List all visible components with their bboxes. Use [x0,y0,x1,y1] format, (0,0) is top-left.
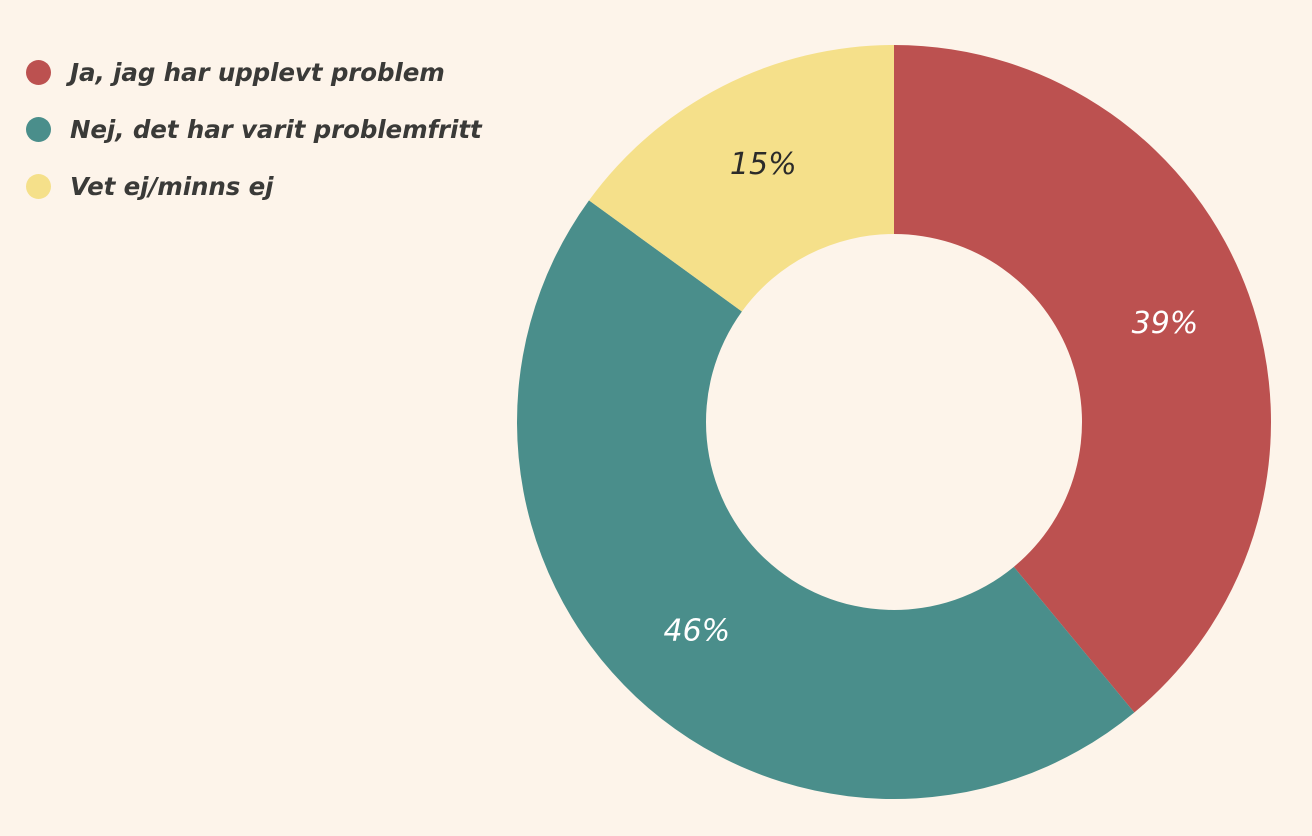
donut-chart: 39%46%15% [0,0,1312,836]
donut-slice-label: 39% [1132,306,1199,341]
donut-slice-group [517,45,1271,799]
donut-slice-label: 15% [730,147,797,182]
donut-slice-label: 46% [664,613,731,648]
chart-figure: Ja, jag har upplevt problem Nej, det har… [0,0,1312,836]
donut-chart-svg: 39%46%15% [0,0,1312,836]
